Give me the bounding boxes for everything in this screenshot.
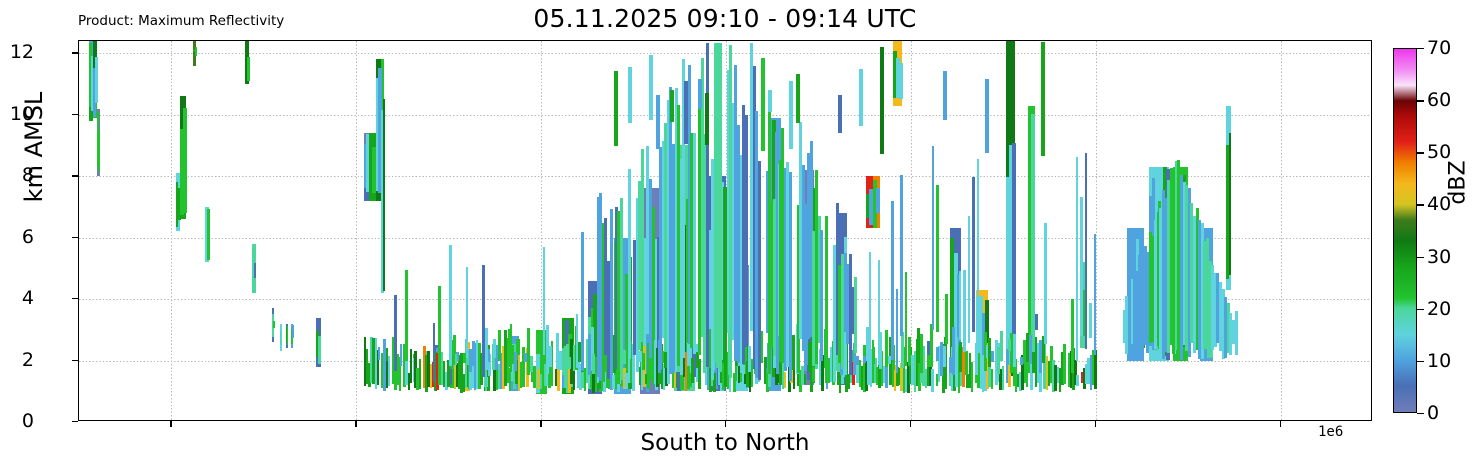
colorbar-tick-label: 70: [1427, 37, 1451, 59]
colorbar-tick-label: 10: [1427, 350, 1451, 372]
y-axis-tick: [72, 114, 78, 115]
y-axis-tick: [72, 237, 78, 238]
y-axis-tick: [72, 298, 78, 299]
colorbar-tick-label: 50: [1427, 141, 1451, 163]
x-axis-offset-label: 1e6: [1318, 424, 1343, 440]
colorbar-tick-label: 0: [1427, 402, 1439, 424]
colorbar-tick-label: 20: [1427, 298, 1451, 320]
y-axis-tick-label: 4: [0, 287, 34, 309]
x-axis-tick: [725, 421, 726, 427]
colorbar-tick: [1417, 100, 1424, 101]
y-axis-tick-label: 10: [0, 103, 34, 125]
colorbar-tick: [1417, 257, 1424, 258]
y-axis-tick: [72, 175, 78, 176]
y-axis-tick-label: 8: [0, 164, 34, 186]
x-axis-tick: [1095, 421, 1096, 427]
plot-area[interactable]: [78, 40, 1372, 421]
y-axis-tick: [72, 360, 78, 361]
x-axis-tick: [355, 421, 356, 427]
colorbar-tick: [1417, 309, 1424, 310]
x-axis-tick: [910, 421, 911, 427]
colorbar-tick: [1417, 48, 1424, 49]
colorbar[interactable]: [1393, 48, 1417, 413]
y-axis-tick: [72, 52, 78, 53]
colorbar-gradient: [1394, 49, 1416, 412]
x-axis-tick: [540, 421, 541, 427]
y-axis-label: km AMSL: [20, 77, 48, 217]
x-axis-tick: [1280, 421, 1281, 427]
colorbar-tick: [1417, 413, 1424, 414]
y-axis-tick-label: 0: [0, 410, 34, 432]
colorbar-tick: [1417, 152, 1424, 153]
x-axis-label: South to North: [78, 430, 1372, 456]
radar-curtain-figure: 05.11.2025 09:10 - 09:14 UTC Product: Ma…: [0, 0, 1482, 470]
colorbar-tick: [1417, 204, 1424, 205]
x-axis-tick: [170, 421, 171, 427]
y-axis-tick-label: 2: [0, 349, 34, 371]
colorbar-tick: [1417, 361, 1424, 362]
reflectivity-data: [79, 41, 1371, 420]
colorbar-tick-label: 60: [1427, 89, 1451, 111]
y-axis-tick-label: 12: [0, 41, 34, 63]
product-label: Product: Maximum Reflectivity: [78, 13, 284, 29]
colorbar-tick-label: 40: [1427, 193, 1451, 215]
colorbar-tick-label: 30: [1427, 246, 1451, 268]
y-axis-tick: [72, 421, 78, 422]
y-axis-tick-label: 6: [0, 226, 34, 248]
